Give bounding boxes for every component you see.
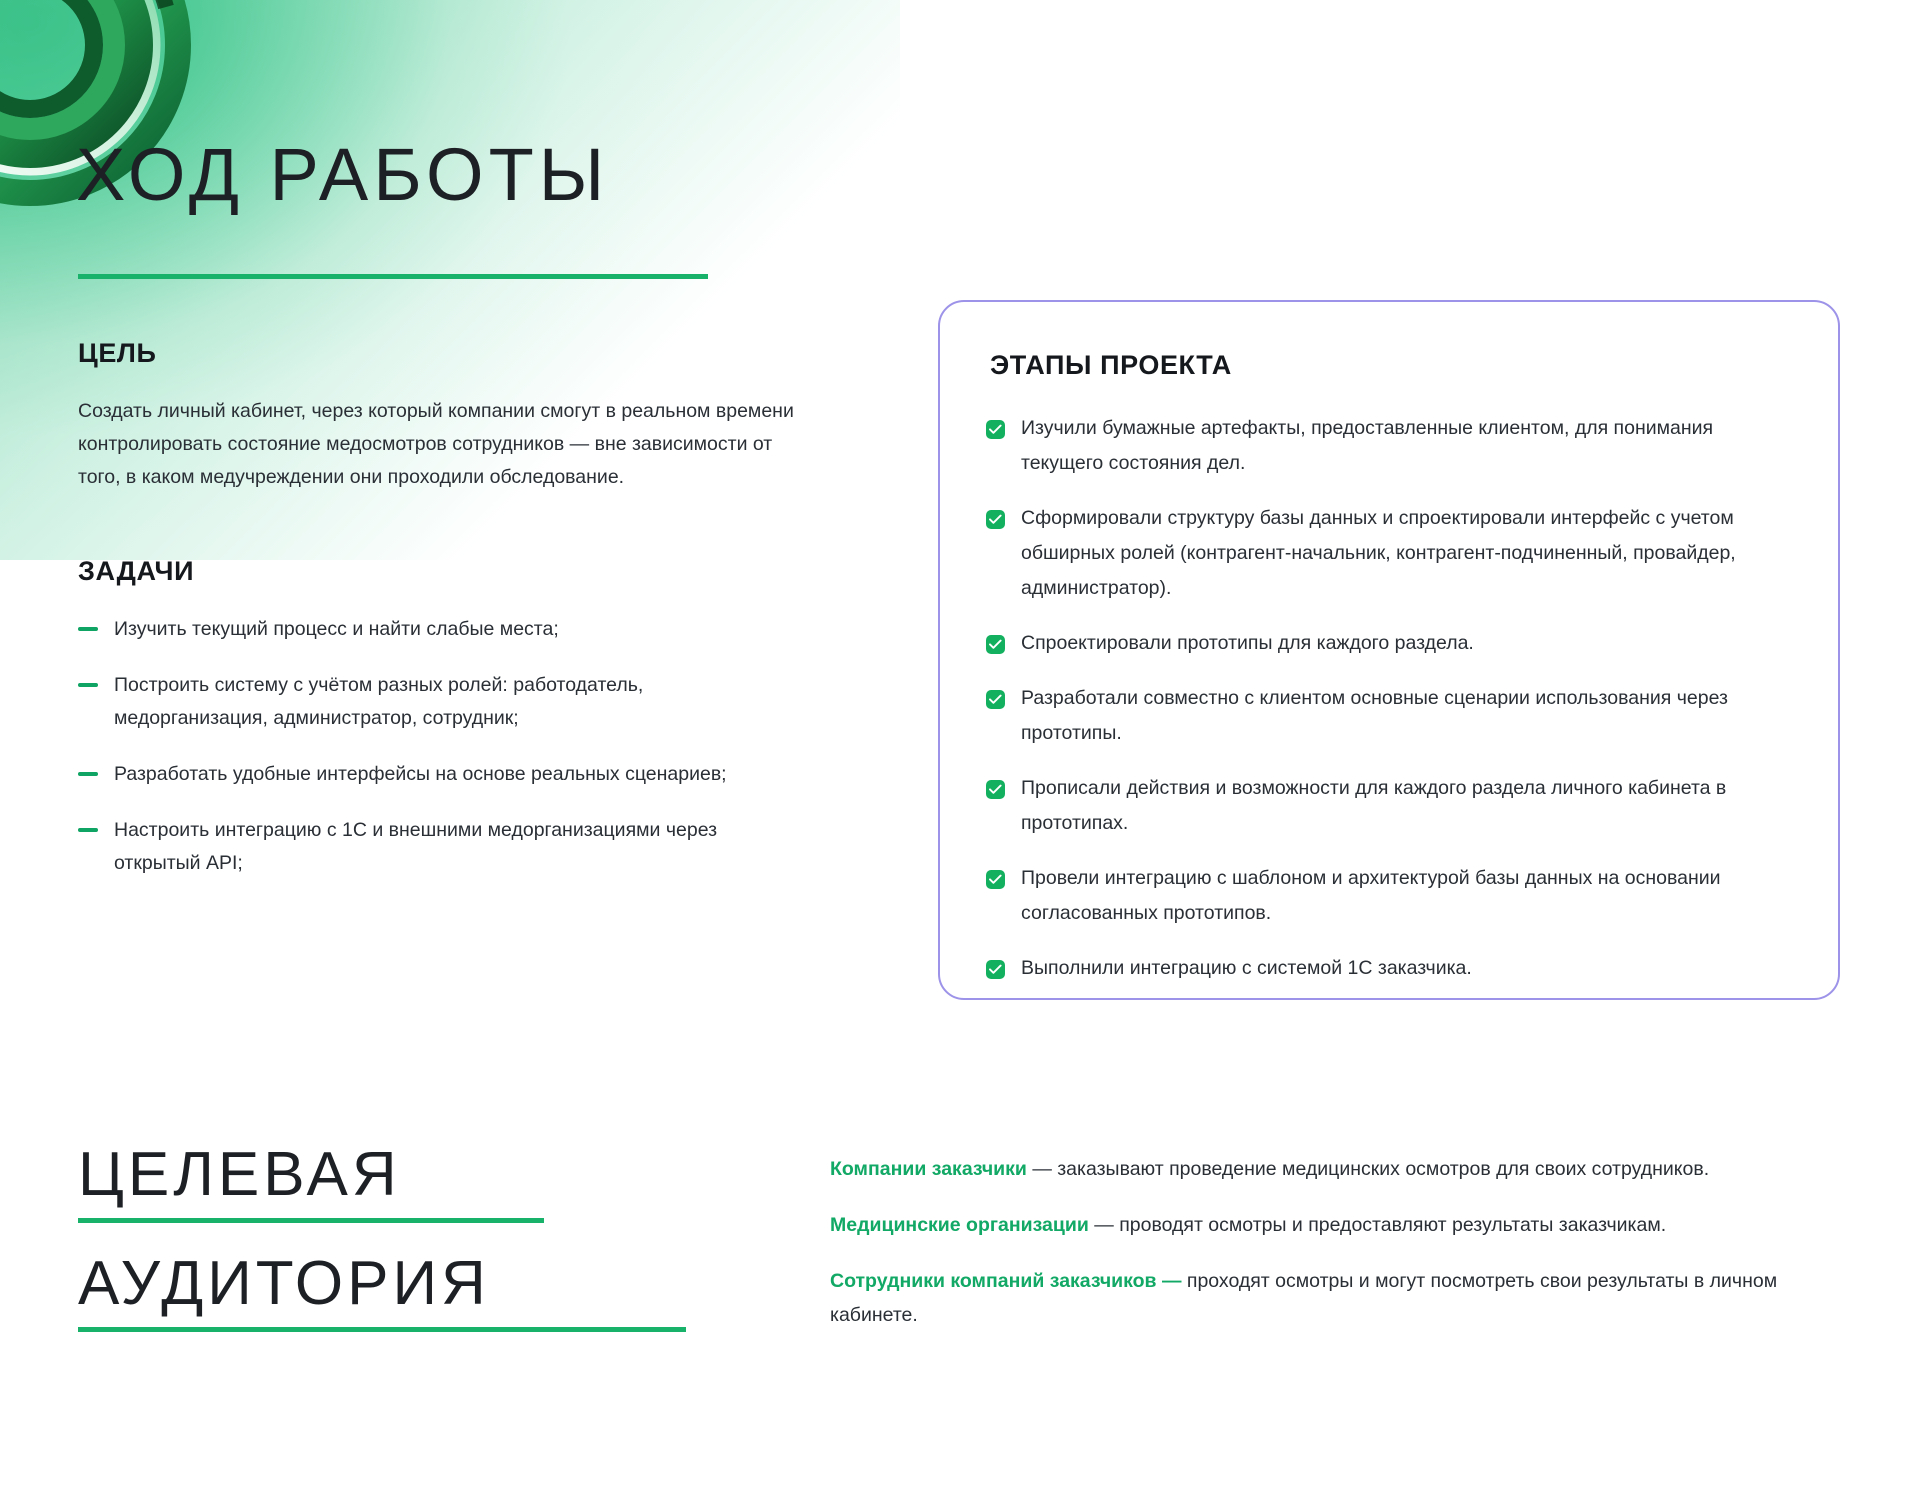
checkbox-checked-icon (986, 870, 1005, 889)
stage-item-label: Прописали действия и возможности для каж… (1021, 771, 1786, 841)
stage-item: Спроектировали прототипы для каждого раз… (986, 626, 1786, 661)
slide-page: ХОД РАБОТЫ ЦЕЛЬ Создать личный кабинет, … (0, 0, 1920, 1500)
dash-bullet-icon (78, 627, 98, 631)
stage-item-label: Изучили бумажные артефакты, предоставлен… (1021, 411, 1786, 481)
checkbox-checked-icon (986, 420, 1005, 439)
page-title: ХОД РАБОТЫ (76, 132, 609, 217)
project-stages-card: ЭТАПЫ ПРОЕКТА Изучили бумажные артефакты… (938, 300, 1840, 1000)
task-item: Разработать удобные интерфейсы на основе… (78, 758, 798, 791)
stages-list: Изучили бумажные артефакты, предоставлен… (986, 411, 1786, 986)
left-content-column: ЦЕЛЬ Создать личный кабинет, через котор… (78, 338, 798, 903)
stage-item: Сформировали структуру базы данных и спр… (986, 501, 1786, 606)
checkbox-checked-icon (986, 635, 1005, 654)
audience-group-description: — заказывают проведение медицинских осмо… (1027, 1158, 1709, 1180)
stage-item: Прописали действия и возможности для каж… (986, 771, 1786, 841)
checkbox-checked-icon (986, 690, 1005, 709)
task-item: Настроить интеграцию с 1С и внешними мед… (78, 814, 798, 880)
checkbox-checked-icon (986, 510, 1005, 529)
target-audience-line-2: АУДИТОРИЯ (78, 1245, 738, 1323)
title-underline-rule (78, 274, 708, 279)
target-audience-rule-1 (78, 1218, 544, 1223)
dash-bullet-icon (78, 772, 98, 776)
target-audience-rule-2 (78, 1327, 686, 1332)
target-audience-heading: ЦЕЛЕВАЯ АУДИТОРИЯ (78, 1136, 738, 1354)
stage-item-label: Провели интеграцию с шаблоном и архитект… (1021, 861, 1786, 931)
stages-title: ЭТАПЫ ПРОЕКТА (990, 350, 1786, 381)
tasks-list: Изучить текущий процесс и найти слабые м… (78, 613, 798, 880)
audience-groups-column: Компании заказчики — заказывают проведен… (830, 1152, 1840, 1354)
goal-paragraph: Создать личный кабинет, через который ко… (78, 395, 798, 494)
stage-item: Провели интеграцию с шаблоном и архитект… (986, 861, 1786, 931)
audience-group-lead: Компании заказчики (830, 1158, 1027, 1180)
stage-item: Изучили бумажные артефакты, предоставлен… (986, 411, 1786, 481)
audience-group: Медицинские организации — проводят осмот… (830, 1208, 1840, 1242)
target-audience-line-1: ЦЕЛЕВАЯ (78, 1136, 738, 1214)
goal-title: ЦЕЛЬ (78, 338, 798, 369)
stage-item-label: Спроектировали прототипы для каждого раз… (1021, 626, 1474, 661)
stage-item: Выполнили интеграцию с системой 1С заказ… (986, 951, 1786, 986)
audience-group-description: — проводят осмотры и предоставляют резул… (1089, 1214, 1666, 1236)
tasks-title: ЗАДАЧИ (78, 556, 798, 587)
dash-bullet-icon (78, 683, 98, 687)
task-item-label: Изучить текущий процесс и найти слабые м… (114, 613, 559, 646)
checkbox-checked-icon (986, 780, 1005, 799)
stage-item-label: Разработали совместно с клиентом основны… (1021, 681, 1786, 751)
audience-group-lead: Сотрудники компаний заказчиков — (830, 1270, 1181, 1292)
task-item: Изучить текущий процесс и найти слабые м… (78, 613, 798, 646)
stage-item-label: Сформировали структуру базы данных и спр… (1021, 501, 1786, 606)
audience-group: Сотрудники компаний заказчиков — проходя… (830, 1264, 1840, 1332)
task-item-label: Настроить интеграцию с 1С и внешними мед… (114, 814, 798, 880)
audience-group: Компании заказчики — заказывают проведен… (830, 1152, 1840, 1186)
task-item: Построить систему с учётом разных ролей:… (78, 669, 798, 735)
stage-item-label: Выполнили интеграцию с системой 1С заказ… (1021, 951, 1472, 986)
stage-item: Разработали совместно с клиентом основны… (986, 681, 1786, 751)
checkbox-checked-icon (986, 960, 1005, 979)
task-item-label: Разработать удобные интерфейсы на основе… (114, 758, 727, 791)
audience-group-lead: Медицинские организации (830, 1214, 1089, 1236)
task-item-label: Построить систему с учётом разных ролей:… (114, 669, 798, 735)
dash-bullet-icon (78, 828, 98, 832)
